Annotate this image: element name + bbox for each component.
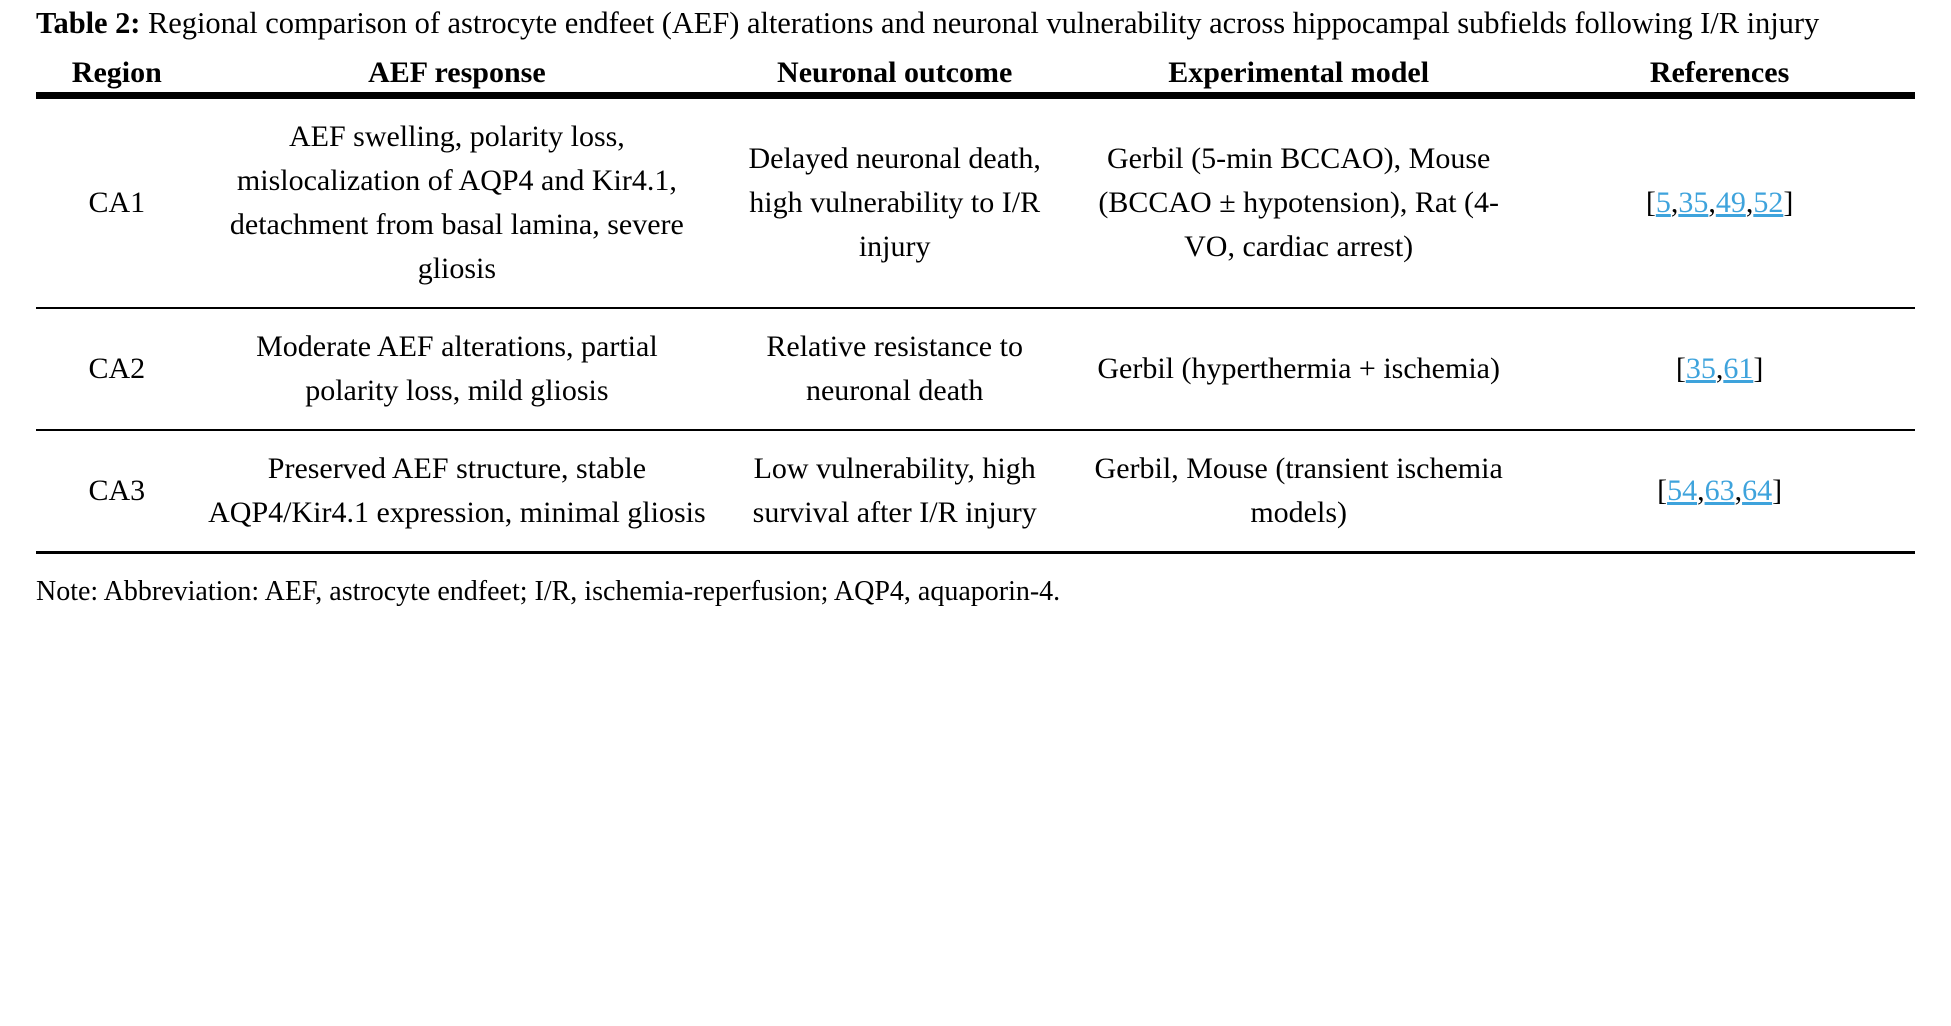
cell-references: [54,63,64]	[1524, 431, 1915, 553]
cell-references: [5,35,49,52]	[1524, 99, 1915, 308]
column-header-references: References	[1524, 54, 1915, 94]
column-header-aef-response: AEF response	[198, 54, 717, 94]
bracket-open: [	[1676, 352, 1686, 385]
caption-text: Regional comparison of astrocyte endfeet…	[148, 6, 1819, 40]
table-header-row: Region AEF response Neuronal outcome Exp…	[36, 54, 1915, 94]
reference-list: [54,63,64]	[1657, 474, 1782, 507]
table-figure-page: Table 2: Regional comparison of astrocyt…	[0, 0, 1951, 1026]
bracket-close: ]	[1783, 186, 1793, 219]
bracket-close: ]	[1772, 474, 1782, 507]
table-row: CA3 Preserved AEF structure, stable AQP4…	[36, 431, 1915, 553]
bracket-open: [	[1646, 186, 1656, 219]
cell-neuronal-outcome: Delayed neuronal death, high vulnerabili…	[716, 99, 1073, 308]
reference-link[interactable]: 35	[1678, 186, 1708, 219]
table-row: CA2 Moderate AEF alterations, partial po…	[36, 309, 1915, 430]
table-row: CA1 AEF swelling, polarity loss, misloca…	[36, 99, 1915, 308]
reference-separator: ,	[1708, 186, 1716, 219]
cell-neuronal-outcome: Low vulnerability, high survival after I…	[716, 431, 1073, 553]
cell-experimental-model: Gerbil, Mouse (transient ischemia models…	[1073, 431, 1524, 553]
table-caption: Table 2: Regional comparison of astrocyt…	[36, 0, 1915, 44]
reference-separator: ,	[1735, 474, 1743, 507]
cell-region: CA1	[36, 99, 198, 308]
comparison-table: Region AEF response Neuronal outcome Exp…	[36, 54, 1915, 554]
cell-aef-response: Moderate AEF alterations, partial polari…	[198, 309, 717, 430]
cell-region: CA2	[36, 309, 198, 430]
reference-list: [35,61]	[1676, 352, 1764, 385]
cell-aef-response: AEF swelling, polarity loss, mislocaliza…	[198, 99, 717, 308]
cell-references: [35,61]	[1524, 309, 1915, 430]
table-body: CA1 AEF swelling, polarity loss, misloca…	[36, 98, 1915, 555]
reference-link[interactable]: 49	[1716, 186, 1746, 219]
cell-neuronal-outcome: Relative resistance to neuronal death	[716, 309, 1073, 430]
reference-link[interactable]: 64	[1742, 474, 1772, 507]
reference-link[interactable]: 5	[1656, 186, 1671, 219]
reference-link[interactable]: 61	[1723, 352, 1753, 385]
cell-aef-response: Preserved AEF structure, stable AQP4/Kir…	[198, 431, 717, 553]
bracket-close: ]	[1753, 352, 1763, 385]
caption-label: Table 2:	[36, 6, 140, 40]
cell-experimental-model: Gerbil (hyperthermia + ischemia)	[1073, 309, 1524, 430]
column-header-neuronal-outcome: Neuronal outcome	[716, 54, 1073, 94]
reference-separator: ,	[1697, 474, 1705, 507]
cell-experimental-model: Gerbil (5-min BCCAO), Mouse (BCCAO ± hyp…	[1073, 99, 1524, 308]
bracket-open: [	[1657, 474, 1667, 507]
reference-link[interactable]: 35	[1686, 352, 1716, 385]
column-header-region: Region	[36, 54, 198, 94]
cell-region: CA3	[36, 431, 198, 553]
reference-link[interactable]: 63	[1705, 474, 1735, 507]
column-header-experimental-model: Experimental model	[1073, 54, 1524, 94]
reference-link[interactable]: 52	[1753, 186, 1783, 219]
reference-link[interactable]: 54	[1667, 474, 1697, 507]
table-note: Note: Abbreviation: AEF, astrocyte endfe…	[36, 554, 1915, 612]
reference-list: [5,35,49,52]	[1646, 186, 1794, 219]
